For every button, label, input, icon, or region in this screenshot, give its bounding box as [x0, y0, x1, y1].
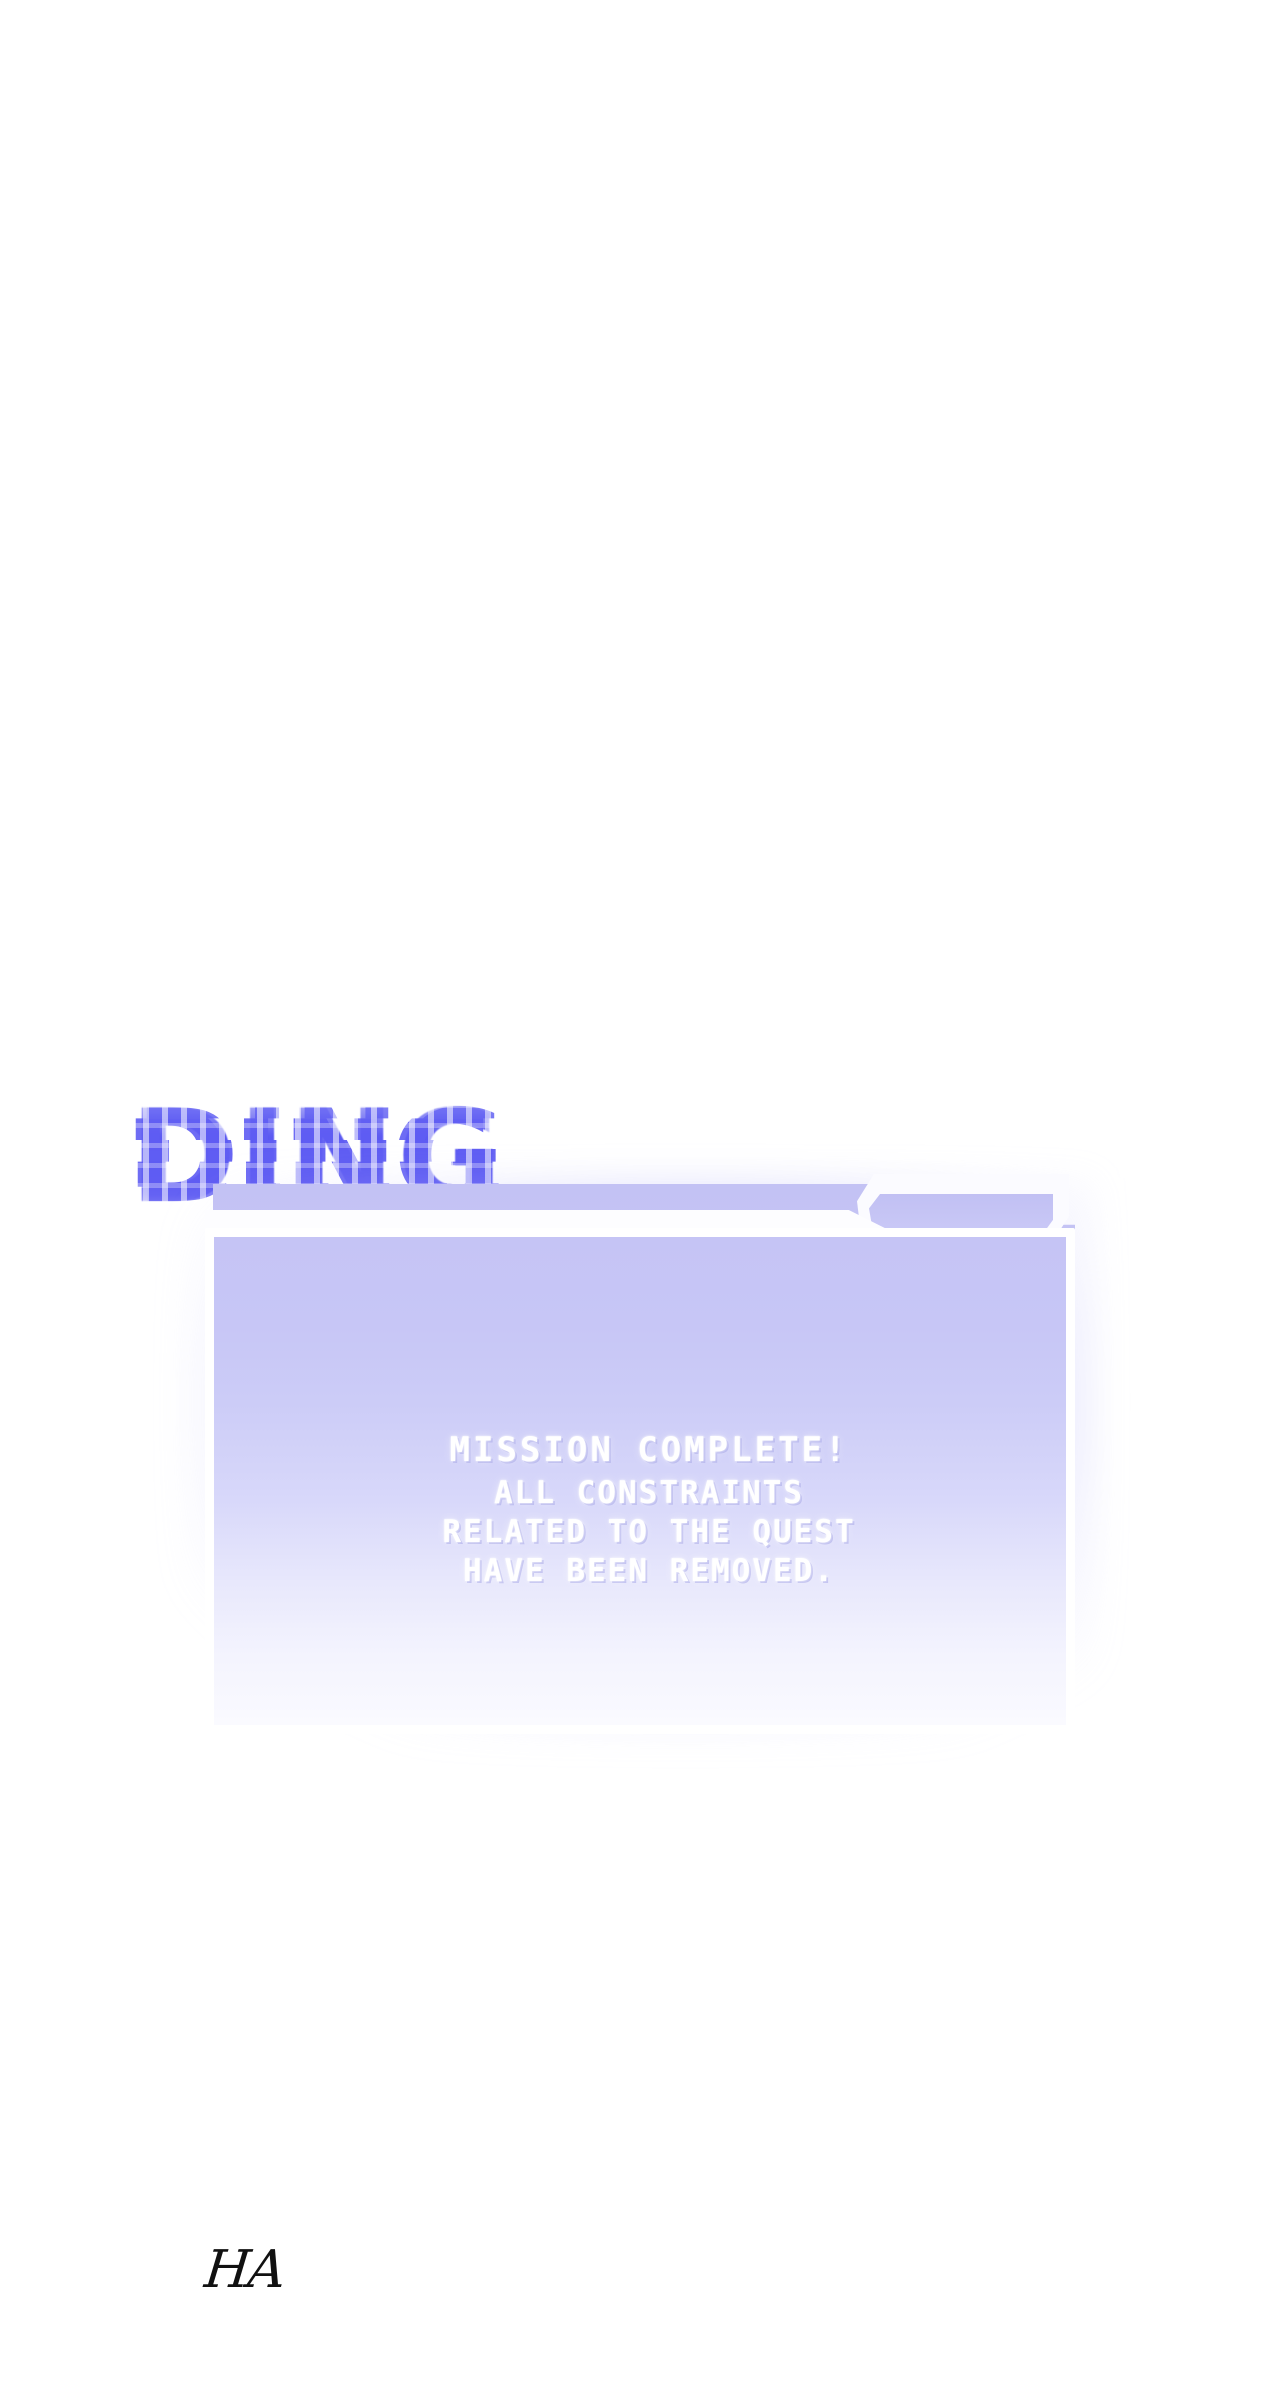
dialog-title: MISSION COMPLETE!: [214, 1433, 1084, 1467]
dialog-body: MISSION COMPLETE! ALL CONSTRAINTS RELATE…: [205, 1228, 1075, 1734]
dialog-body-line-1: ALL CONSTRAINTS: [214, 1478, 1084, 1509]
dialog-body-line-2: RELATED TO THE QUEST: [214, 1517, 1084, 1548]
mission-complete-dialog: MISSION COMPLETE! ALL CONSTRAINTS RELATE…: [205, 1150, 1075, 1740]
artist-signature: HA: [202, 2240, 287, 2300]
folder-tab-inner-face: [869, 1194, 1053, 1230]
comic-panel-canvas: DING DING DING DING DING DING DING MISSI…: [0, 0, 1280, 2400]
dialog-body-line-3: HAVE BEEN REMOVED.: [214, 1556, 1084, 1587]
dialog-message: MISSION COMPLETE! ALL CONSTRAINTS RELATE…: [214, 1433, 1084, 1595]
